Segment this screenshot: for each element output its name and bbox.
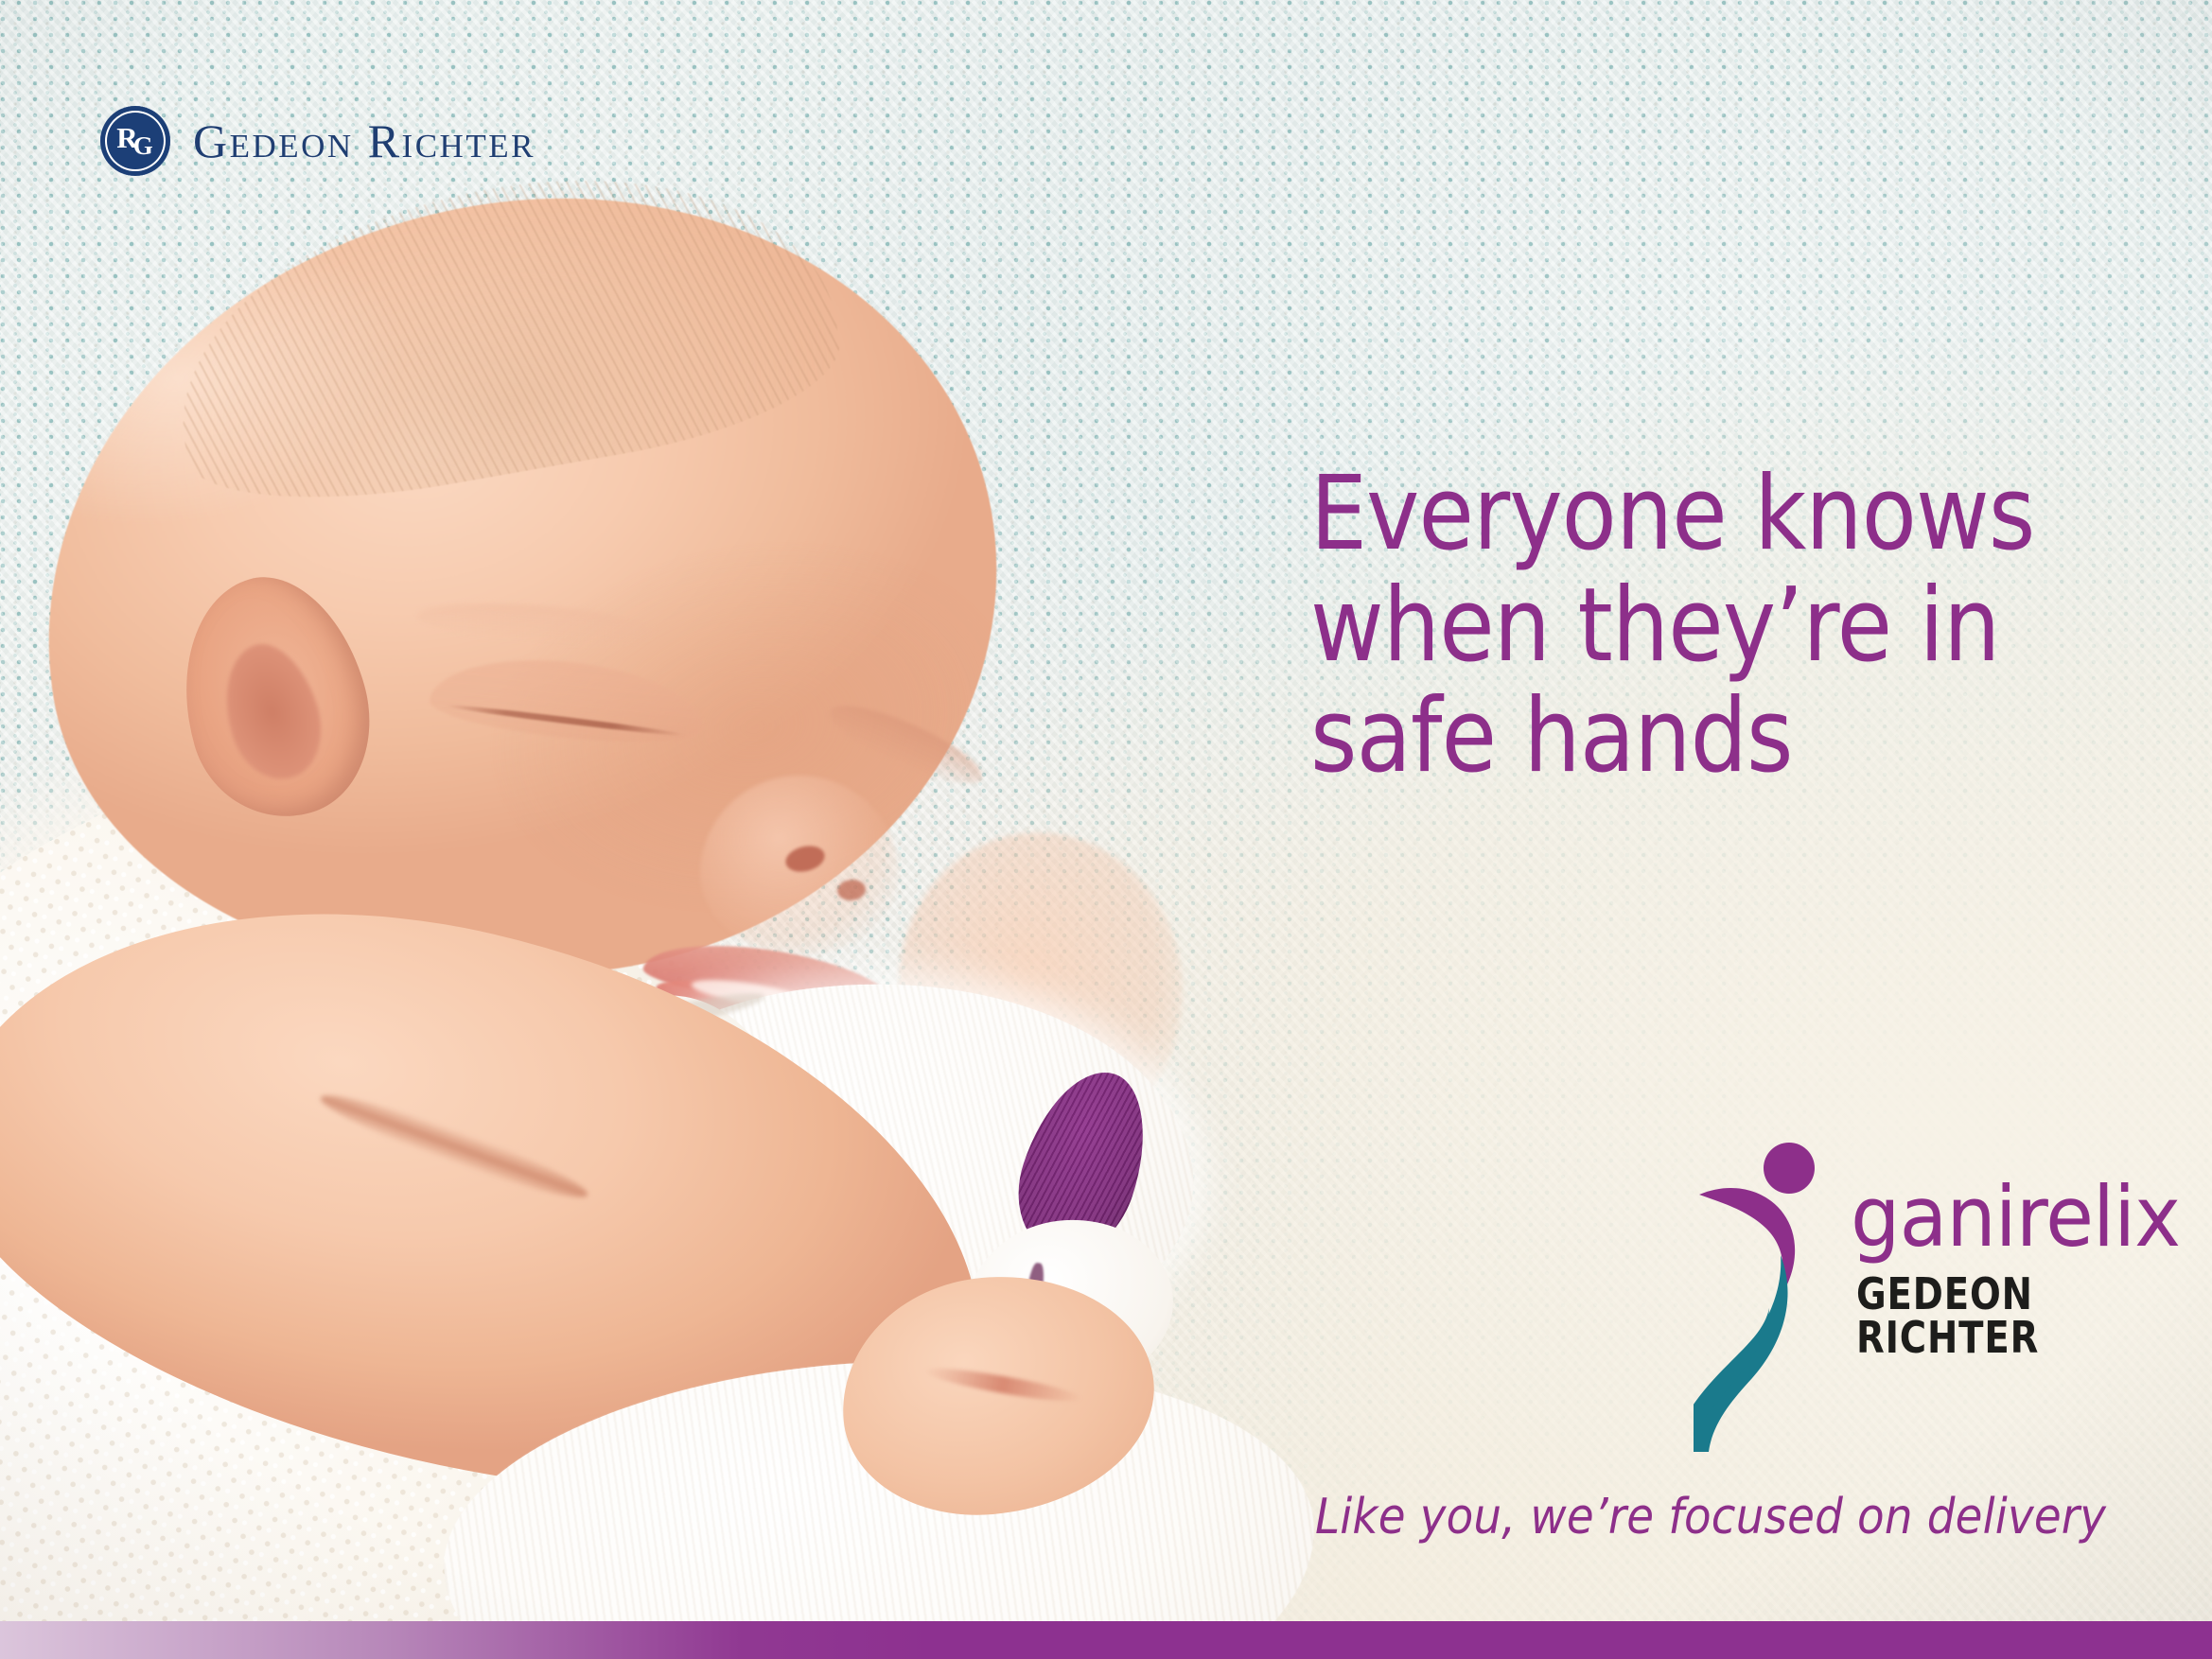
advertisement-page: RG Gedeon Richter Everyone knows when th… [0,0,2212,1659]
headline-line-2: when they’re in [1310,570,2043,682]
tagline: Like you, we’re focused on delivery [1315,1493,2106,1542]
headline: Everyone knows when they’re in safe hand… [1310,459,2043,793]
ganirelix-wordmark: ganirelix [1851,1176,2180,1259]
corporate-logo-wordmark: Gedeon Richter [193,114,535,168]
headline-line-1: Everyone knows [1310,459,2043,570]
ganirelix-company-line: GEDEON RICHTER [1856,1272,2133,1359]
gedeon-richter-corporate-logo: RG Gedeon Richter [100,106,535,176]
ganirelix-figure-icon [1694,1140,1835,1452]
footer-band-translucent-left [0,1621,927,1659]
rg-monogram-icon: RG [100,106,170,176]
headline-line-3: safe hands [1310,681,2043,793]
ganirelix-brand-lockup: ganirelix GEDEON RICHTER [1694,1140,2186,1452]
rg-monogram-letters: RG [116,123,151,159]
monogram-g: G [133,131,152,160]
figure-head-dot [1764,1143,1815,1194]
